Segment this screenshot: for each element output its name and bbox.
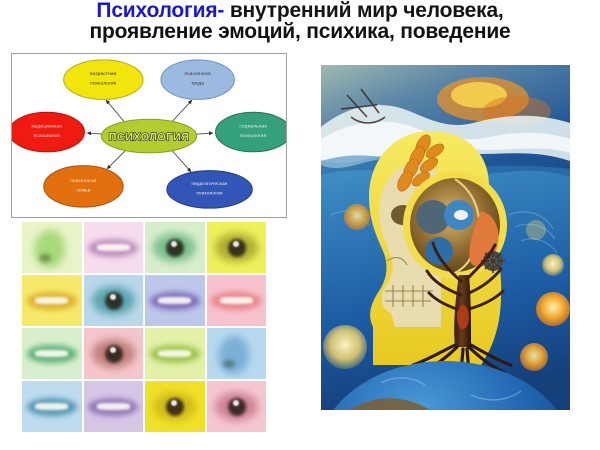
tile-teeth: [97, 403, 130, 410]
title-line-one: Психология- внутренний мир человека,: [0, 0, 600, 21]
collage-tile-eye-9: [84, 328, 144, 379]
painting-inner-scene-water: [425, 237, 453, 265]
title-line-two: проявление эмоций, психика, поведение: [0, 21, 600, 42]
node-label-line-1: психология: [184, 71, 211, 76]
collage-tile-mouth-6: [145, 275, 205, 326]
painting-sun-pale-left: [323, 325, 367, 369]
tile-teeth: [158, 350, 191, 357]
mind-map-panel: возрастнаяпсихологияпсихологиятрудамедиц…: [11, 53, 287, 218]
tile-nostril: [223, 360, 235, 368]
mind-map-node-socialnaya[interactable]: социальнаяпсихология: [216, 112, 286, 152]
tile-teeth: [35, 403, 68, 410]
mind-map-diagram: возрастнаяпсихологияпсихологиятрудамедиц…: [12, 54, 286, 217]
mind-map-node-semi[interactable]: психологиясемьи: [44, 166, 123, 207]
collage-tile-mouth-10: [145, 328, 205, 379]
node-label-line-2: психология: [196, 190, 223, 195]
mind-map-center-node[interactable]: ПСИХОЛОГИЯ: [101, 119, 196, 153]
painting-planet-small-left: [344, 204, 370, 230]
mind-map-node-truda[interactable]: психологиятруда: [161, 60, 234, 100]
tile-teeth: [220, 297, 253, 304]
collage-tile-eye-3: [207, 222, 267, 273]
collage-tile-eye-15: [207, 381, 267, 432]
painting-brain-disc: [403, 171, 507, 279]
tile-teeth: [35, 350, 68, 357]
collage-tile-mouth-7: [207, 275, 267, 326]
tile-teeth: [97, 244, 130, 251]
collage-tile-eye-14: [145, 381, 205, 432]
tile-eye-highlight: [233, 400, 239, 406]
collage-tile-mouth-1: [84, 222, 144, 273]
node-label-line-1: педагогическая: [191, 181, 227, 186]
tile-nose: [218, 336, 249, 374]
tile-eye-highlight: [233, 241, 239, 247]
node-label-line-2: психология: [90, 81, 117, 86]
collage-tile-eye-5: [84, 275, 144, 326]
tile-eye-highlight: [110, 294, 116, 300]
mind-map-node-meditsinskaya[interactable]: медицинскаяпсихология: [12, 112, 84, 152]
title-line-one-rest: внутренний мир человека,: [230, 0, 504, 22]
collage-tile-mouth-8: [22, 328, 82, 379]
collage-tile-mouth-13: [84, 381, 144, 432]
mind-map-center-label: ПСИХОЛОГИЯ: [109, 131, 190, 143]
collage-tile-nose-11: [207, 328, 267, 379]
page-title: Психология- внутренний мир человека, про…: [0, 0, 600, 50]
tile-teeth: [35, 297, 68, 304]
node-label-line-1: социальная: [239, 124, 267, 129]
collage-tile-mouth-12: [22, 381, 82, 432]
painting-moon-white: [542, 254, 564, 276]
node-label-line-1: психология: [70, 178, 97, 183]
facial-features-collage: [22, 222, 266, 432]
node-label-line-1: возрастная: [90, 71, 117, 76]
painting-planet-faint: [526, 220, 546, 240]
mind-map-node-vozrastnaya[interactable]: возрастнаяпсихология: [64, 60, 143, 100]
tile-nostril: [39, 254, 51, 262]
surreal-psychology-painting: [321, 65, 570, 410]
tile-teeth: [158, 297, 191, 304]
tile-eye-highlight: [110, 347, 116, 353]
collage-tile-mouth-4: [22, 275, 82, 326]
painting-planet-orange-right: [536, 292, 570, 326]
collage-tile-nose-0: [22, 222, 82, 273]
title-accent-word: Психология-: [96, 0, 224, 22]
collage-tile-eye-2: [145, 222, 205, 273]
tile-nose: [34, 230, 65, 268]
node-label-line-2: труда: [191, 81, 204, 86]
painting-artwork: [321, 65, 570, 410]
node-label-line-1: медицинская: [31, 124, 62, 129]
mind-map-node-pedagogicheskaya[interactable]: педагогическаяпсихология: [167, 171, 252, 209]
painting-planet-orange-lower: [520, 343, 548, 371]
node-label-line-2: семьи: [76, 187, 90, 192]
node-label-line-2: психология: [240, 133, 267, 138]
node-label-line-2: психология: [34, 133, 61, 138]
